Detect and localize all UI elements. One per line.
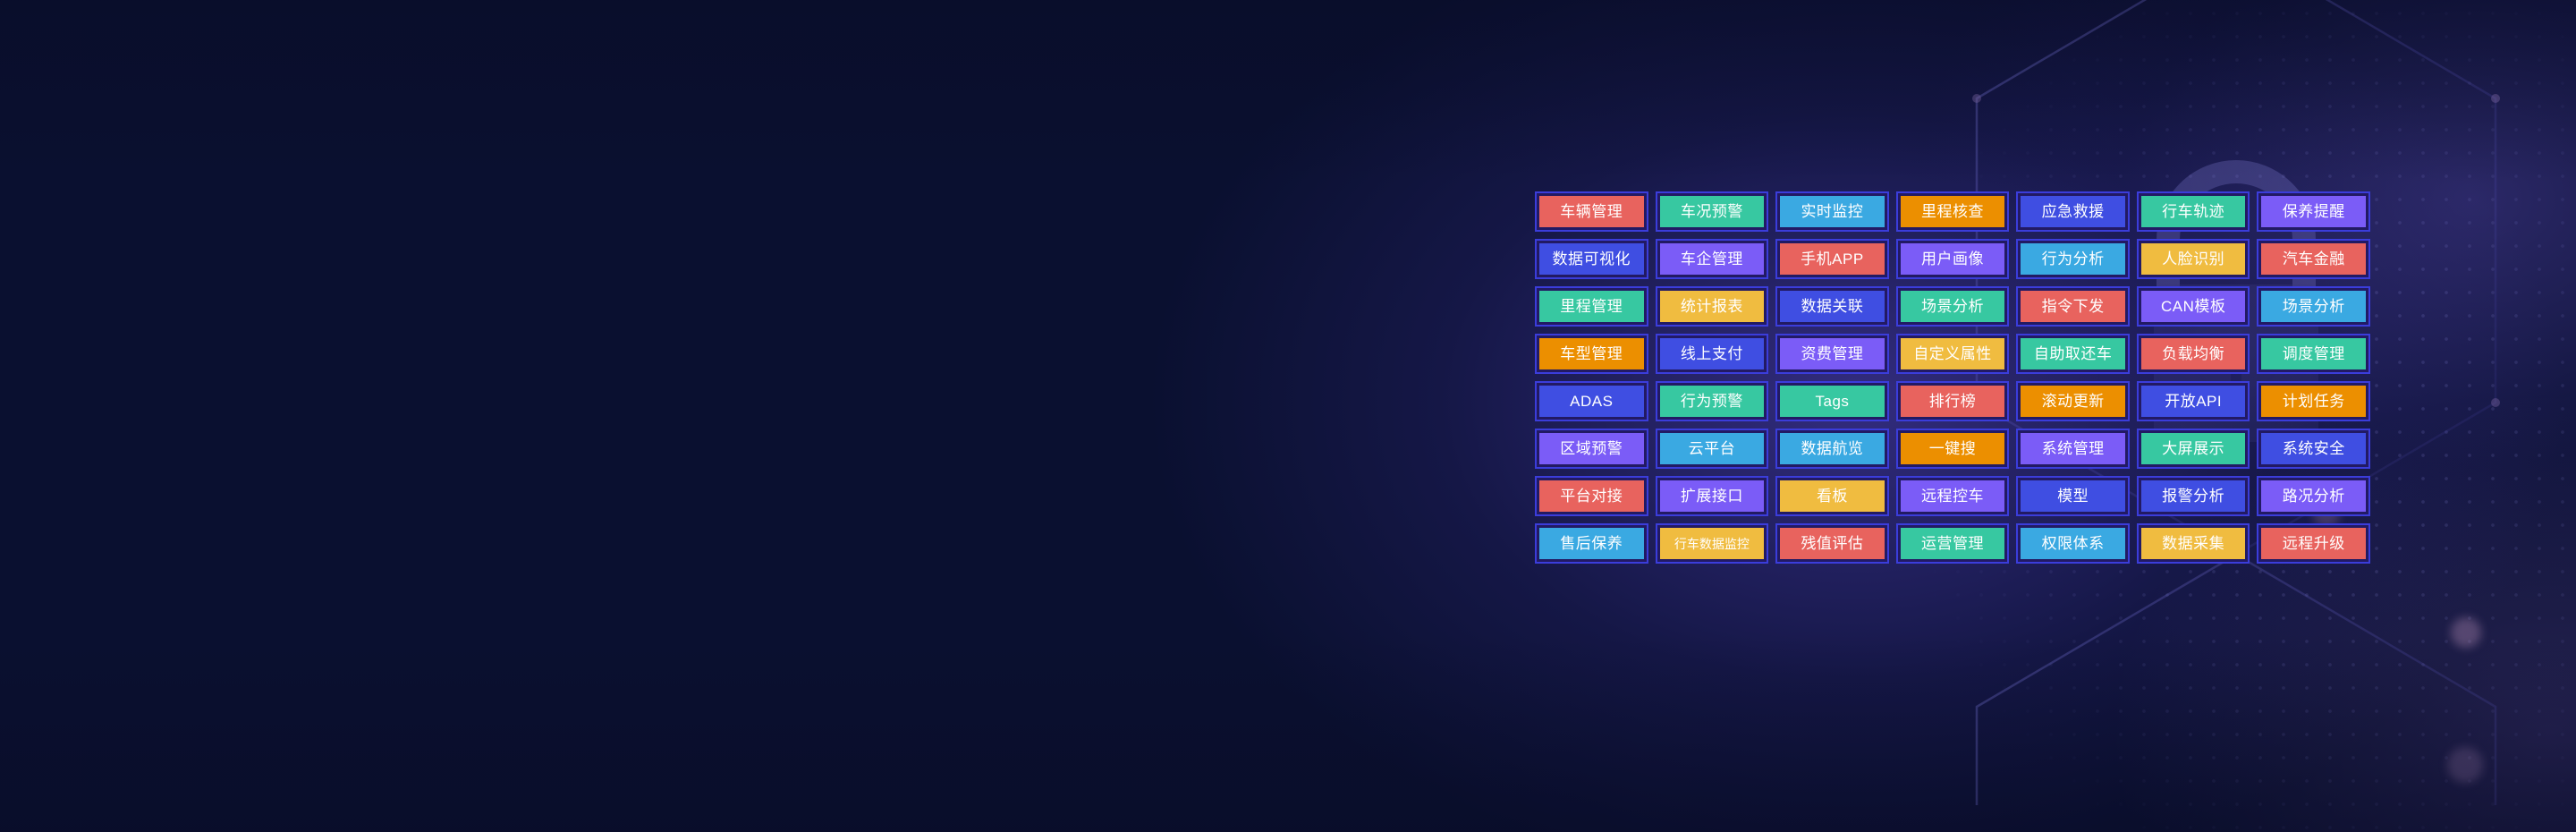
feature-tag[interactable]: 行为预警 (1656, 381, 1769, 421)
feature-tag[interactable]: 应急救援 (2016, 191, 2130, 232)
feature-tag[interactable]: 场景分析 (1896, 286, 2010, 327)
tag-row: 车型管理线上支付资费管理自定义属性自助取还车负载均衡调度管理 (1535, 334, 2370, 374)
feature-tag-label: 运营管理 (1901, 528, 2005, 559)
feature-tag-label: 调度管理 (2261, 338, 2366, 369)
feature-tag[interactable]: 运营管理 (1896, 523, 2010, 564)
feature-tag-label: 行为预警 (1660, 386, 1765, 417)
feature-tag[interactable]: 残值评估 (1775, 523, 1889, 564)
feature-tag[interactable]: 远程控车 (1896, 476, 2010, 516)
feature-tag[interactable]: 车况预警 (1656, 191, 1769, 232)
feature-tag[interactable]: 实时监控 (1775, 191, 1889, 232)
feature-tag-label: 手机APP (1780, 243, 1885, 275)
feature-tag[interactable]: 扩展接口 (1656, 476, 1769, 516)
feature-tag-label: 计划任务 (2261, 386, 2366, 417)
feature-tag-label: 行车轨迹 (2141, 196, 2246, 227)
feature-tag[interactable]: 开放API (2137, 381, 2250, 421)
feature-tag[interactable]: 排行榜 (1896, 381, 2010, 421)
tag-row: 车辆管理车况预警实时监控里程核查应急救援行车轨迹保养提醒 (1535, 191, 2370, 232)
feature-tag-label: 场景分析 (1901, 291, 2005, 322)
feature-tag-label: 一键搜 (1901, 433, 2005, 464)
feature-tag[interactable]: CAN模板 (2137, 286, 2250, 327)
feature-tag-label: 系统安全 (2261, 433, 2366, 464)
feature-tag[interactable]: 数据关联 (1775, 286, 1889, 327)
feature-tag[interactable]: ADAS (1535, 381, 1648, 421)
feature-tag[interactable]: 看板 (1775, 476, 1889, 516)
feature-tag[interactable]: 负载均衡 (2137, 334, 2250, 374)
feature-tag-label: 远程升级 (2261, 528, 2366, 559)
feature-tag-label: 应急救援 (2021, 196, 2125, 227)
feature-tag[interactable]: 报警分析 (2137, 476, 2250, 516)
feature-tag-label: 系统管理 (2021, 433, 2125, 464)
feature-tag-label: 用户画像 (1901, 243, 2005, 275)
feature-tag-label: 路况分析 (2261, 480, 2366, 512)
feature-tag[interactable]: 汽车金融 (2257, 239, 2370, 279)
feature-tag-label: 数据采集 (2141, 528, 2246, 559)
feature-tag-label: 线上支付 (1660, 338, 1765, 369)
glow-node-lower-left (2447, 747, 2483, 783)
feature-tag[interactable]: 系统管理 (2016, 429, 2130, 469)
feature-tag-label: 大屏展示 (2141, 433, 2246, 464)
feature-tag-label: 指令下发 (2021, 291, 2125, 322)
feature-tag[interactable]: 模型 (2016, 476, 2130, 516)
feature-tag[interactable]: Tags (1775, 381, 1889, 421)
feature-tag[interactable]: 手机APP (1775, 239, 1889, 279)
feature-tag-label: 平台对接 (1539, 480, 1644, 512)
feature-tag-label: 模型 (2021, 480, 2125, 512)
feature-tag[interactable]: 区域预警 (1535, 429, 1648, 469)
feature-tag[interactable]: 行车轨迹 (2137, 191, 2250, 232)
feature-tag-label: 区域预警 (1539, 433, 1644, 464)
feature-tag-label: 车况预警 (1660, 196, 1765, 227)
feature-tag[interactable]: 保养提醒 (2257, 191, 2370, 232)
feature-tag-label: 排行榜 (1901, 386, 2005, 417)
feature-tag-label: CAN模板 (2141, 291, 2246, 322)
feature-tag-label: 数据关联 (1780, 291, 1885, 322)
feature-tag[interactable]: 一键搜 (1896, 429, 2010, 469)
feature-tag[interactable]: 用户画像 (1896, 239, 2010, 279)
feature-tag[interactable]: 车辆管理 (1535, 191, 1648, 232)
feature-tag[interactable]: 系统安全 (2257, 429, 2370, 469)
feature-tag[interactable]: 云平台 (1656, 429, 1769, 469)
feature-tag[interactable]: 自定义属性 (1896, 334, 2010, 374)
feature-tag[interactable]: 数据可视化 (1535, 239, 1648, 279)
feature-tag-label: 车型管理 (1539, 338, 1644, 369)
feature-tag[interactable]: 人脸识别 (2137, 239, 2250, 279)
feature-tag-label: 数据可视化 (1539, 243, 1644, 275)
feature-tag-label: 车企管理 (1660, 243, 1765, 275)
feature-tag-label: 滚动更新 (2021, 386, 2125, 417)
feature-tag-label: 自助取还车 (2021, 338, 2125, 369)
feature-tag[interactable]: 行为分析 (2016, 239, 2130, 279)
feature-tag[interactable]: 大屏展示 (2137, 429, 2250, 469)
feature-tag-label: 报警分析 (2141, 480, 2246, 512)
feature-tag[interactable]: 权限体系 (2016, 523, 2130, 564)
feature-tag[interactable]: 数据航览 (1775, 429, 1889, 469)
feature-tag-label: 数据航览 (1780, 433, 1885, 464)
feature-tag-label: 里程管理 (1539, 291, 1644, 322)
feature-tag-label: 售后保养 (1539, 528, 1644, 559)
feature-tag-label: 车辆管理 (1539, 196, 1644, 227)
feature-tag[interactable]: 数据采集 (2137, 523, 2250, 564)
feature-tag-label: 行为分析 (2021, 243, 2125, 275)
tag-row: 平台对接扩展接口看板远程控车模型报警分析路况分析 (1535, 476, 2370, 516)
glow-node-bottom-right (2451, 617, 2481, 648)
feature-tag-label: 权限体系 (2021, 528, 2125, 559)
tag-row: 售后保养行车数据监控残值评估运营管理权限体系数据采集远程升级 (1535, 523, 2370, 564)
feature-tag-grid: 车辆管理车况预警实时监控里程核查应急救援行车轨迹保养提醒数据可视化车企管理手机A… (1535, 191, 2370, 564)
feature-tag-label: 云平台 (1660, 433, 1765, 464)
tag-row: 区域预警云平台数据航览一键搜系统管理大屏展示系统安全 (1535, 429, 2370, 469)
feature-tag[interactable]: 远程升级 (2257, 523, 2370, 564)
tag-row: 数据可视化车企管理手机APP用户画像行为分析人脸识别汽车金融 (1535, 239, 2370, 279)
feature-tag-label: 开放API (2141, 386, 2246, 417)
feature-tag-label: 里程核查 (1901, 196, 2005, 227)
feature-tag[interactable]: 统计报表 (1656, 286, 1769, 327)
feature-tag-label: 人脸识别 (2141, 243, 2246, 275)
feature-tag[interactable]: 里程核查 (1896, 191, 2010, 232)
feature-tag[interactable]: 车型管理 (1535, 334, 1648, 374)
feature-tag[interactable]: 指令下发 (2016, 286, 2130, 327)
feature-tag-label: 保养提醒 (2261, 196, 2366, 227)
tag-row: ADAS行为预警Tags排行榜滚动更新开放API计划任务 (1535, 381, 2370, 421)
feature-tag-label: 扩展接口 (1660, 480, 1765, 512)
feature-tag-label: 资费管理 (1780, 338, 1885, 369)
feature-tag-label: 统计报表 (1660, 291, 1765, 322)
feature-tag[interactable]: 里程管理 (1535, 286, 1648, 327)
feature-tag[interactable]: 车企管理 (1656, 239, 1769, 279)
feature-tag[interactable]: 行车数据监控 (1656, 523, 1769, 564)
feature-tag[interactable]: 计划任务 (2257, 381, 2370, 421)
feature-tag-label: 实时监控 (1780, 196, 1885, 227)
hexagon-outline-lower (1977, 555, 2495, 805)
tag-row: 里程管理统计报表数据关联场景分析指令下发CAN模板场景分析 (1535, 286, 2370, 327)
feature-tag-label: 远程控车 (1901, 480, 2005, 512)
feature-tag[interactable]: 调度管理 (2257, 334, 2370, 374)
feature-tag-label: 残值评估 (1780, 528, 1885, 559)
feature-tag[interactable]: 线上支付 (1656, 334, 1769, 374)
feature-tag-label: 行车数据监控 (1660, 528, 1765, 559)
feature-tag[interactable]: 平台对接 (1535, 476, 1648, 516)
feature-tag[interactable]: 售后保养 (1535, 523, 1648, 564)
feature-tag[interactable]: 滚动更新 (2016, 381, 2130, 421)
feature-tag-label: 自定义属性 (1901, 338, 2005, 369)
feature-tag-label: 负载均衡 (2141, 338, 2246, 369)
feature-tag-label: 看板 (1780, 480, 1885, 512)
feature-tag[interactable]: 路况分析 (2257, 476, 2370, 516)
feature-tag-label: ADAS (1539, 386, 1644, 417)
app-canvas: 车辆管理车况预警实时监控里程核查应急救援行车轨迹保养提醒数据可视化车企管理手机A… (0, 0, 2576, 832)
feature-tag-label: 场景分析 (2261, 291, 2366, 322)
feature-tag[interactable]: 场景分析 (2257, 286, 2370, 327)
feature-tag[interactable]: 自助取还车 (2016, 334, 2130, 374)
feature-tag-label: Tags (1780, 386, 1885, 417)
feature-tag-label: 汽车金融 (2261, 243, 2366, 275)
feature-tag[interactable]: 资费管理 (1775, 334, 1889, 374)
